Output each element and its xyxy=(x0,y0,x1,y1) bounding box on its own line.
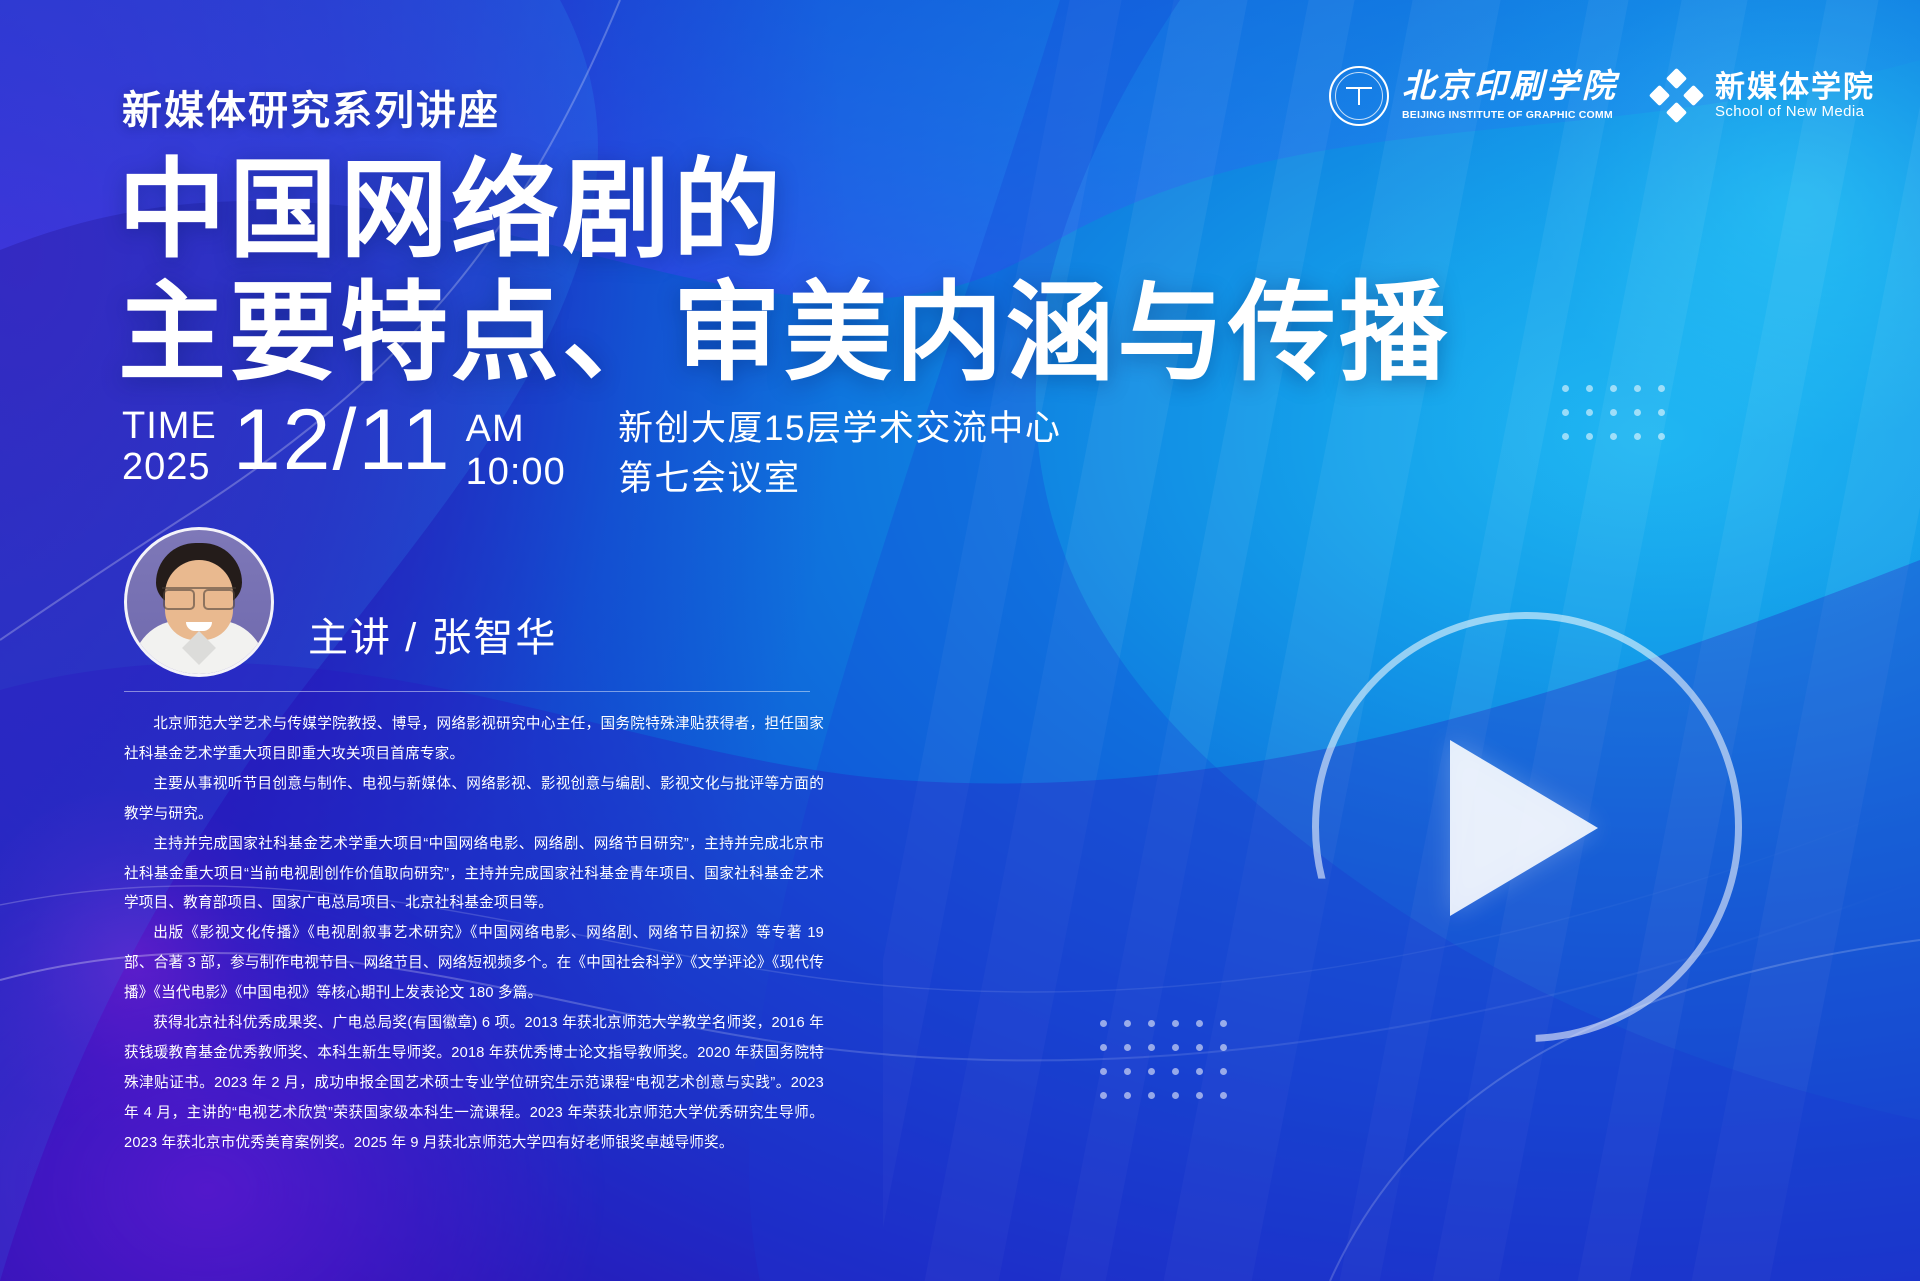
title-line-1: 中国网络剧的 xyxy=(118,152,1450,269)
ampm-label: AM xyxy=(466,408,566,451)
bio-paragraph: 北京师范大学艺术与传媒学院教授、博导，网络影视研究中心主任，国务院特殊津贴获得者… xyxy=(124,710,824,770)
title-line-2: 主要特点、审美内涵与传播 xyxy=(118,275,1450,392)
time-value: 10:00 xyxy=(466,451,566,494)
bigc-name-en: BEIJING INSTITUTE OF GRAPHIC COMMUNICATI… xyxy=(1402,110,1612,121)
avatar xyxy=(124,527,274,677)
new-media-name-cn: 新媒体学院 xyxy=(1715,71,1875,105)
logo-beijing-institute-graphic-communication: 北京印刷学院 BEIJING INSTITUTE OF GRAPHIC COMM… xyxy=(1329,66,1618,126)
date-value: 12/11 xyxy=(233,398,452,481)
series-kicker: 新媒体研究系列讲座 xyxy=(122,78,500,136)
speaker-name: 主讲 / 张智华 xyxy=(308,605,557,677)
venue-line-1: 新创大厦15层学术交流中心 xyxy=(618,404,1061,454)
lecture-poster: 北京印刷学院 BEIJING INSTITUTE OF GRAPHIC COMM… xyxy=(0,0,1920,1281)
venue-line-2: 第七会议室 xyxy=(618,454,1061,504)
page-title: 中国网络剧的 主要特点、审美内涵与传播 xyxy=(118,152,1450,391)
speaker-block: 主讲 / 张智华 xyxy=(124,527,557,677)
year-value: 2025 xyxy=(122,447,217,488)
time-label-stack: TIME 2025 xyxy=(122,398,217,488)
bio-paragraph: 获得北京社科优秀成果奖、广电总局奖(有国徽章) 6 项。2013 年获北京师范大… xyxy=(124,1009,824,1159)
bio-paragraph: 出版《影视文化传播》《电视剧叙事艺术研究》《中国网络电影、网络剧、网络节目初探》… xyxy=(124,919,824,1009)
datetime-block: TIME 2025 12/11 AM 10:00 xyxy=(122,398,566,493)
logo-school-of-new-media: 新媒体学院 School of New Media xyxy=(1652,71,1875,121)
time-label: TIME xyxy=(122,406,217,447)
new-media-name-en: School of New Media xyxy=(1715,104,1875,121)
university-seal-icon xyxy=(1329,66,1389,126)
logo-group: 北京印刷学院 BEIJING INSTITUTE OF GRAPHIC COMM… xyxy=(1329,66,1875,126)
new-media-diamond-icon xyxy=(1652,71,1702,121)
divider xyxy=(124,691,810,692)
ampm-stack: AM 10:00 xyxy=(466,398,566,493)
bio-paragraph: 主要从事视听节目创意与制作、电视与新媒体、网络影视、影视创意与编剧、影视文化与批… xyxy=(124,770,824,830)
bio-paragraph: 主持并完成国家社科基金艺术学重大项目“中国网络电影、网络剧、网络节目研究”，主持… xyxy=(124,830,824,920)
venue-block: 新创大厦15层学术交流中心 第七会议室 xyxy=(618,404,1061,505)
speaker-bio: 北京师范大学艺术与传媒学院教授、博导，网络影视研究中心主任，国务院特殊津贴获得者… xyxy=(124,710,824,1159)
bigc-name-cn: 北京印刷学院 xyxy=(1402,71,1618,104)
